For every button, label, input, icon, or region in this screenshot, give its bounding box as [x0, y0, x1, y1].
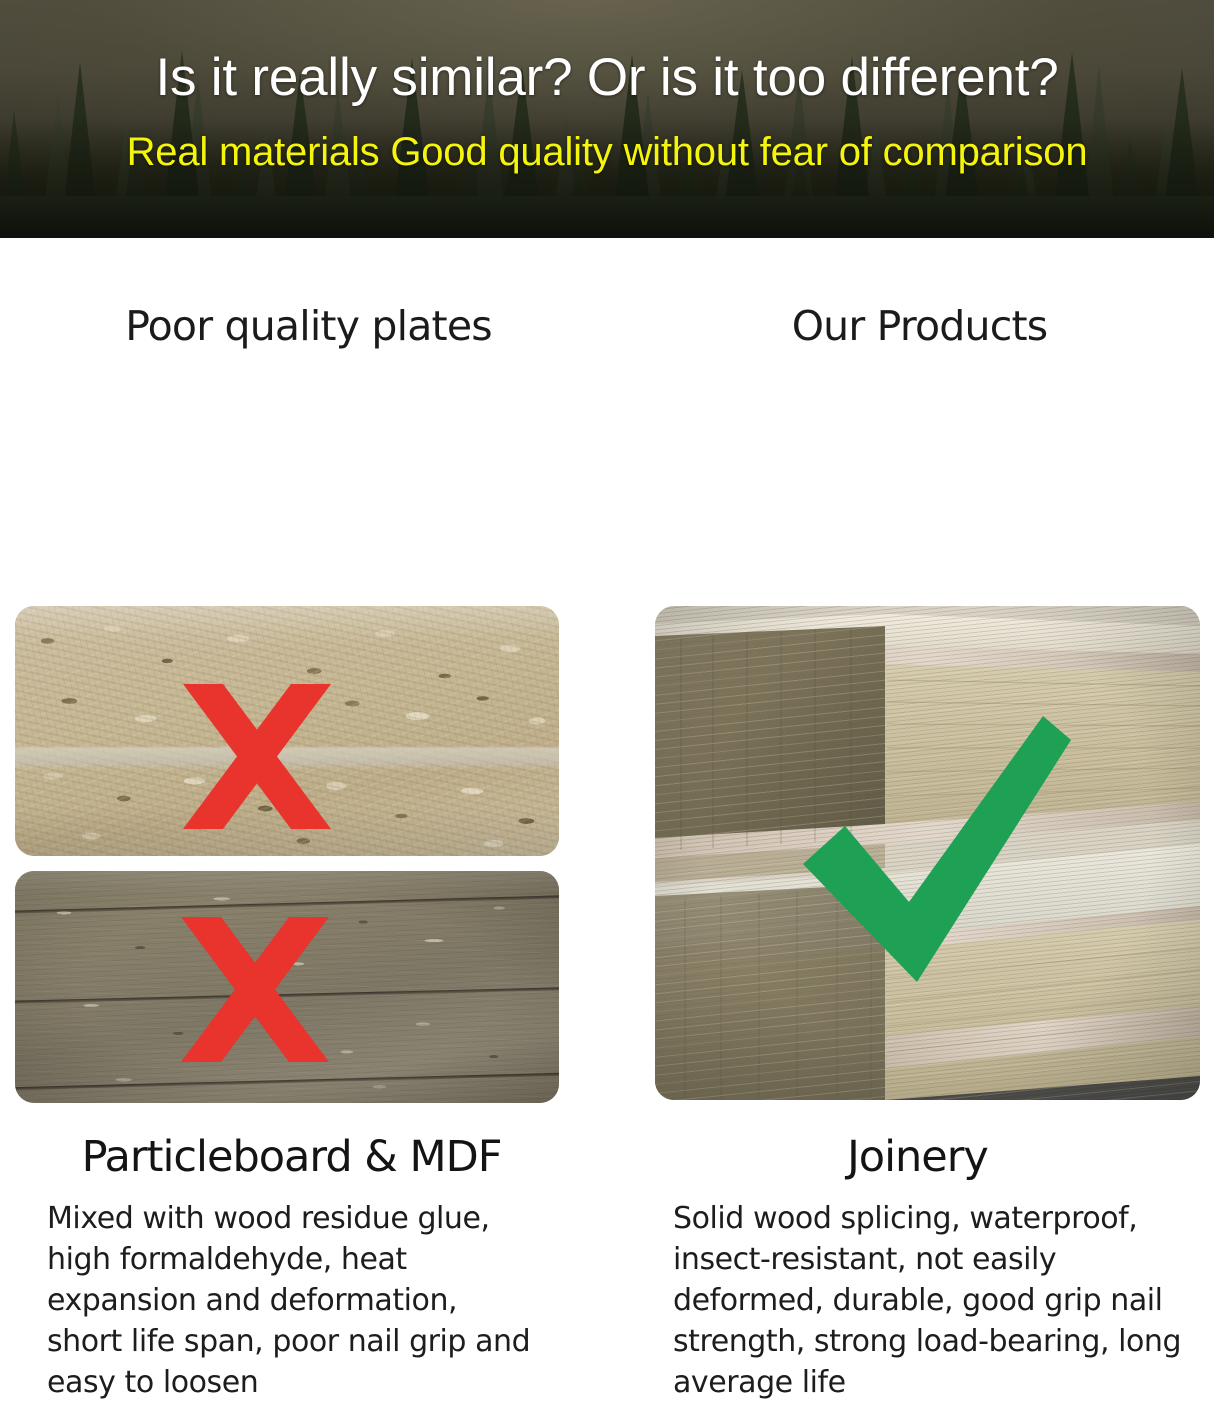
header-banner: Is it really similar? Or is it too diffe…	[0, 0, 1214, 238]
caption-title-joinery: Joinery	[607, 1110, 1214, 1182]
caption-title-particleboard: Particleboard & MDF	[0, 1110, 607, 1182]
caption-block-our-products: Joinery Solid wood splicing, waterproof,…	[607, 1110, 1214, 1403]
banner-headline: Is it really similar? Or is it too diffe…	[0, 0, 1214, 105]
column-heading-our-products: Our Products	[607, 238, 1214, 350]
banner-subheadline: Real materials Good quality without fear…	[0, 105, 1214, 173]
comparison-column-poor-quality: Poor quality plates	[0, 238, 607, 350]
check-icon	[803, 716, 1071, 982]
mdf-board-photo	[15, 871, 559, 1103]
caption-block-poor-quality: Particleboard & MDF Mixed with wood resi…	[0, 1110, 607, 1403]
joinery-solid-wood-stack-photo	[655, 606, 1200, 1100]
banner-text-block: Is it really similar? Or is it too diffe…	[0, 0, 1214, 173]
cross-icon	[177, 684, 337, 829]
particleboard-chip-edge-photo	[15, 606, 559, 856]
comparison-section: Poor quality plates Ou	[0, 238, 1214, 1214]
caption-body-particleboard: Mixed with wood residue glue, high forma…	[0, 1182, 607, 1403]
caption-body-joinery: Solid wood splicing, waterproof, insect-…	[607, 1182, 1214, 1403]
cross-icon	[175, 917, 335, 1062]
column-heading-poor-quality: Poor quality plates	[0, 238, 607, 350]
comparison-column-our-products: Our Products	[607, 238, 1214, 350]
